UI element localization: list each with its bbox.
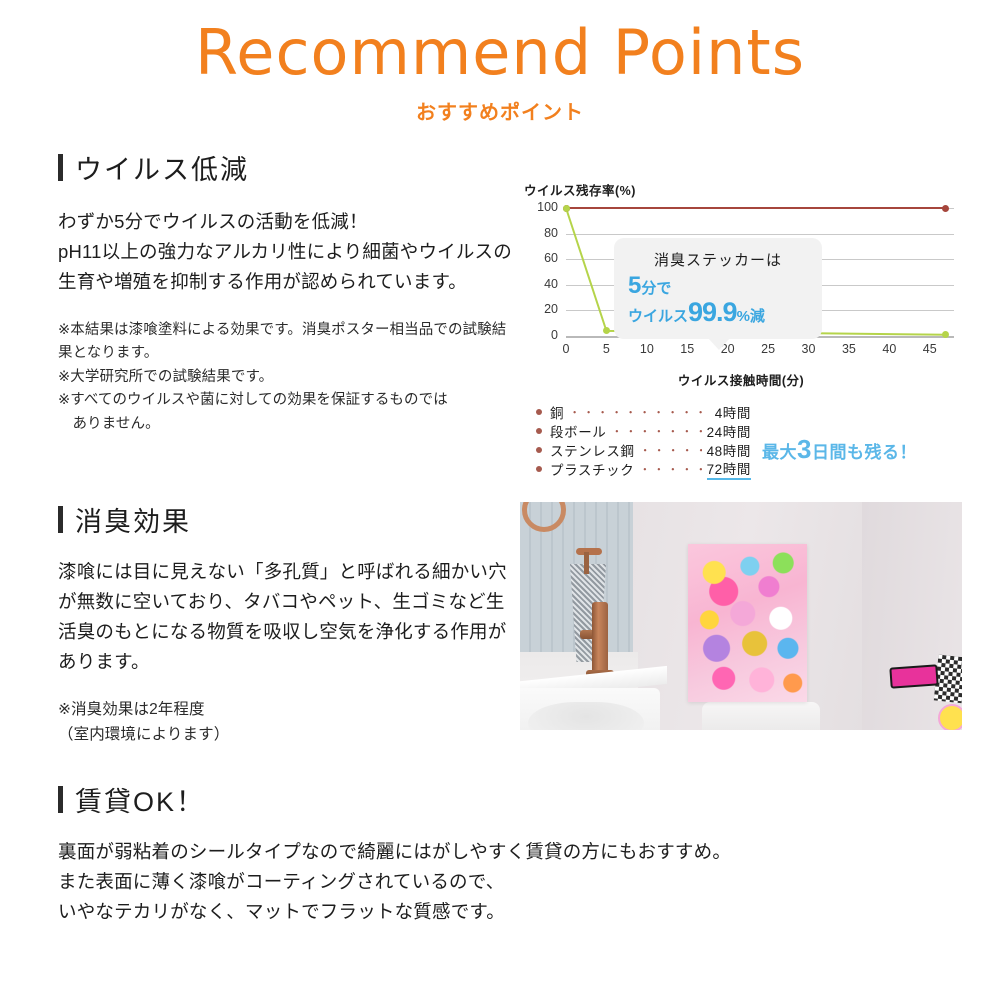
max-note-value: 3 <box>797 434 812 464</box>
photo-hook-stem <box>584 552 589 574</box>
legend-row: 銅・・・・・・・・・・・4時間 <box>536 402 751 421</box>
callout-line-1: 消臭ステッカーは <box>628 249 808 270</box>
section-notes: ※本結果は漆喰塗料による効果です。消臭ポスター相当品での試験結果となります。 ※… <box>58 319 513 436</box>
bathroom-photo <box>520 502 962 730</box>
legend-material-name: 段ボール <box>550 421 606 441</box>
callout-bubble: 消臭ステッカーは 5分で ウイルス99.9%減 <box>614 238 822 339</box>
section-body: 裏面が弱粘着のシールタイプなので綺麗にはがしやすく賃貸の方にもおすすめ。 また表… <box>58 837 878 927</box>
photo-toilet-tank <box>702 702 820 730</box>
section-notes: ※消臭効果は2年程度 （室内環境によります） <box>58 697 513 747</box>
legend-row: 段ボール・・・・・・・・・・・24時間 <box>536 421 751 440</box>
legend-duration-value: 4時間 <box>715 402 751 422</box>
section-virus-reduction: ウイルス低減 わずか5分でウイルスの活動を低減！ pH11以上の強力なアルカリ性… <box>58 148 513 436</box>
callout-line-2: 5分で <box>628 274 808 298</box>
chart-x-tick-label: 45 <box>923 342 937 356</box>
page-header: Recommend Points おすすめポイント <box>0 22 1000 125</box>
section-body: わずか5分でウイルスの活動を低減！ pH11以上の強力なアルカリ性により細菌やウ… <box>58 207 513 297</box>
chart-x-tick-label: 30 <box>802 342 816 356</box>
heading-bar-icon <box>58 786 63 813</box>
chart-y-tick-label: 20 <box>520 302 558 316</box>
legend-bullet-icon <box>536 428 542 434</box>
chart-y-tick-label: 80 <box>520 226 558 240</box>
chart-y-tick-label: 100 <box>520 200 558 214</box>
max-duration-note: 最大3日間も残る！ <box>762 436 917 463</box>
note-line: （室内環境によります） <box>58 722 513 747</box>
chart-y-tick-label: 0 <box>520 328 558 342</box>
heading-bar-icon <box>58 506 63 533</box>
max-note-suffix: 日間も残る！ <box>812 443 917 462</box>
legend-duration-value: 72時間 <box>707 458 751 480</box>
legend-material-name: 銅 <box>550 402 564 422</box>
chart-x-tick-label: 40 <box>882 342 896 356</box>
survival-duration-legend: 銅・・・・・・・・・・・4時間段ボール・・・・・・・・・・・24時間ステンレス鋼… <box>536 402 751 478</box>
legend-leader-dots: ・・・・・・・・・・・ <box>639 461 701 477</box>
photo-sink-bowl <box>528 702 644 730</box>
callout-minutes-value: 5 <box>628 272 641 299</box>
section-body: 漆喰には目に見えない「多孔質」と呼ばれる細かい穴が無数に空いており、タバコやペッ… <box>58 557 513 677</box>
legend-bullet-icon <box>536 447 542 453</box>
callout-reduction-value: 99.9 <box>688 297 737 327</box>
section-rental-ok: 賃貸OK！ 裏面が弱粘着のシールタイプなので綺麗にはがしやすく賃貸の方にもおすす… <box>58 780 878 927</box>
chart-x-tick-label: 15 <box>680 342 694 356</box>
chart-x-tick-label: 35 <box>842 342 856 356</box>
chart-y-tick-label: 40 <box>520 277 558 291</box>
legend-leader-dots: ・・・・・・・・・・・ <box>569 404 710 420</box>
note-line: ※大学研究所での試験結果です。 <box>58 366 513 389</box>
callout-reduction-tail: 減 <box>750 308 765 325</box>
callout-virus-label: ウイルス <box>628 308 688 325</box>
legend-material-name: プラスチック <box>550 459 634 479</box>
legend-duration-value: 24時間 <box>707 421 751 441</box>
legend-leader-dots: ・・・・・・・・・・・ <box>611 423 701 439</box>
note-line: ※本結果は漆喰塗料による効果です。消臭ポスター相当品での試験結果となります。 <box>58 319 513 366</box>
callout-percent-sign: % <box>737 308 750 325</box>
poster-smiley-sticker <box>938 704 962 730</box>
legend-bullet-icon <box>536 409 542 415</box>
recommend-points-page: Recommend Points おすすめポイント ウイルス低減 わずか5分でウ… <box>0 0 1000 1000</box>
chart-x-tick-label: 25 <box>761 342 775 356</box>
chart-x-axis-label: ウイルス接触時間(分) <box>520 370 962 389</box>
section-title: ウイルス低減 <box>75 148 249 187</box>
photo-faucet <box>592 602 608 674</box>
section-heading: 賃貸OK！ <box>58 780 878 819</box>
note-line: ※すべてのウイルスや菌に対しての効果を保証するものでは <box>58 389 513 412</box>
legend-row: プラスチック・・・・・・・・・・・72時間 <box>536 459 751 478</box>
poster-badge-sticker <box>889 664 938 688</box>
legend-row: ステンレス鋼・・・・・・・・・・・48時間 <box>536 440 751 459</box>
photo-hook <box>576 548 602 555</box>
section-heading: 消臭効果 <box>58 500 513 539</box>
chart-x-tick-label: 5 <box>603 342 610 356</box>
legend-material-name: ステンレス鋼 <box>550 440 635 460</box>
chart-x-tick-label: 0 <box>563 342 570 356</box>
page-subtitle: おすすめポイント <box>0 96 1000 125</box>
chart-y-axis-label: ウイルス残存率(%) <box>524 180 636 199</box>
photo-sticker-poster <box>688 544 807 702</box>
chart-point-marker <box>563 205 570 212</box>
section-title: 賃貸OK！ <box>75 780 205 819</box>
chart-point-marker <box>942 205 949 212</box>
note-line-indented: ありません。 <box>58 413 513 436</box>
section-title: 消臭効果 <box>75 500 191 539</box>
max-note-prefix: 最大 <box>762 443 797 462</box>
callout-line-3: ウイルス99.9%減 <box>628 299 808 326</box>
legend-duration-value: 48時間 <box>707 440 751 460</box>
page-title: Recommend Points <box>0 22 1000 84</box>
section-deodorizing: 消臭効果 漆喰には目に見えない「多孔質」と呼ばれる細かい穴が無数に空いており、タ… <box>58 500 513 747</box>
legend-leader-dots: ・・・・・・・・・・・ <box>640 442 702 458</box>
chart-x-ticks: 051015202530354045 <box>566 342 954 358</box>
note-line: ※消臭効果は2年程度 <box>58 697 513 722</box>
legend-bullet-icon <box>536 466 542 472</box>
chart-x-tick-label: 10 <box>640 342 654 356</box>
section-heading: ウイルス低減 <box>58 148 513 187</box>
heading-bar-icon <box>58 154 63 181</box>
callout-minutes-unit: 分 <box>641 280 656 297</box>
callout-minutes-tail: で <box>656 280 671 297</box>
chart-y-tick-label: 60 <box>520 251 558 265</box>
